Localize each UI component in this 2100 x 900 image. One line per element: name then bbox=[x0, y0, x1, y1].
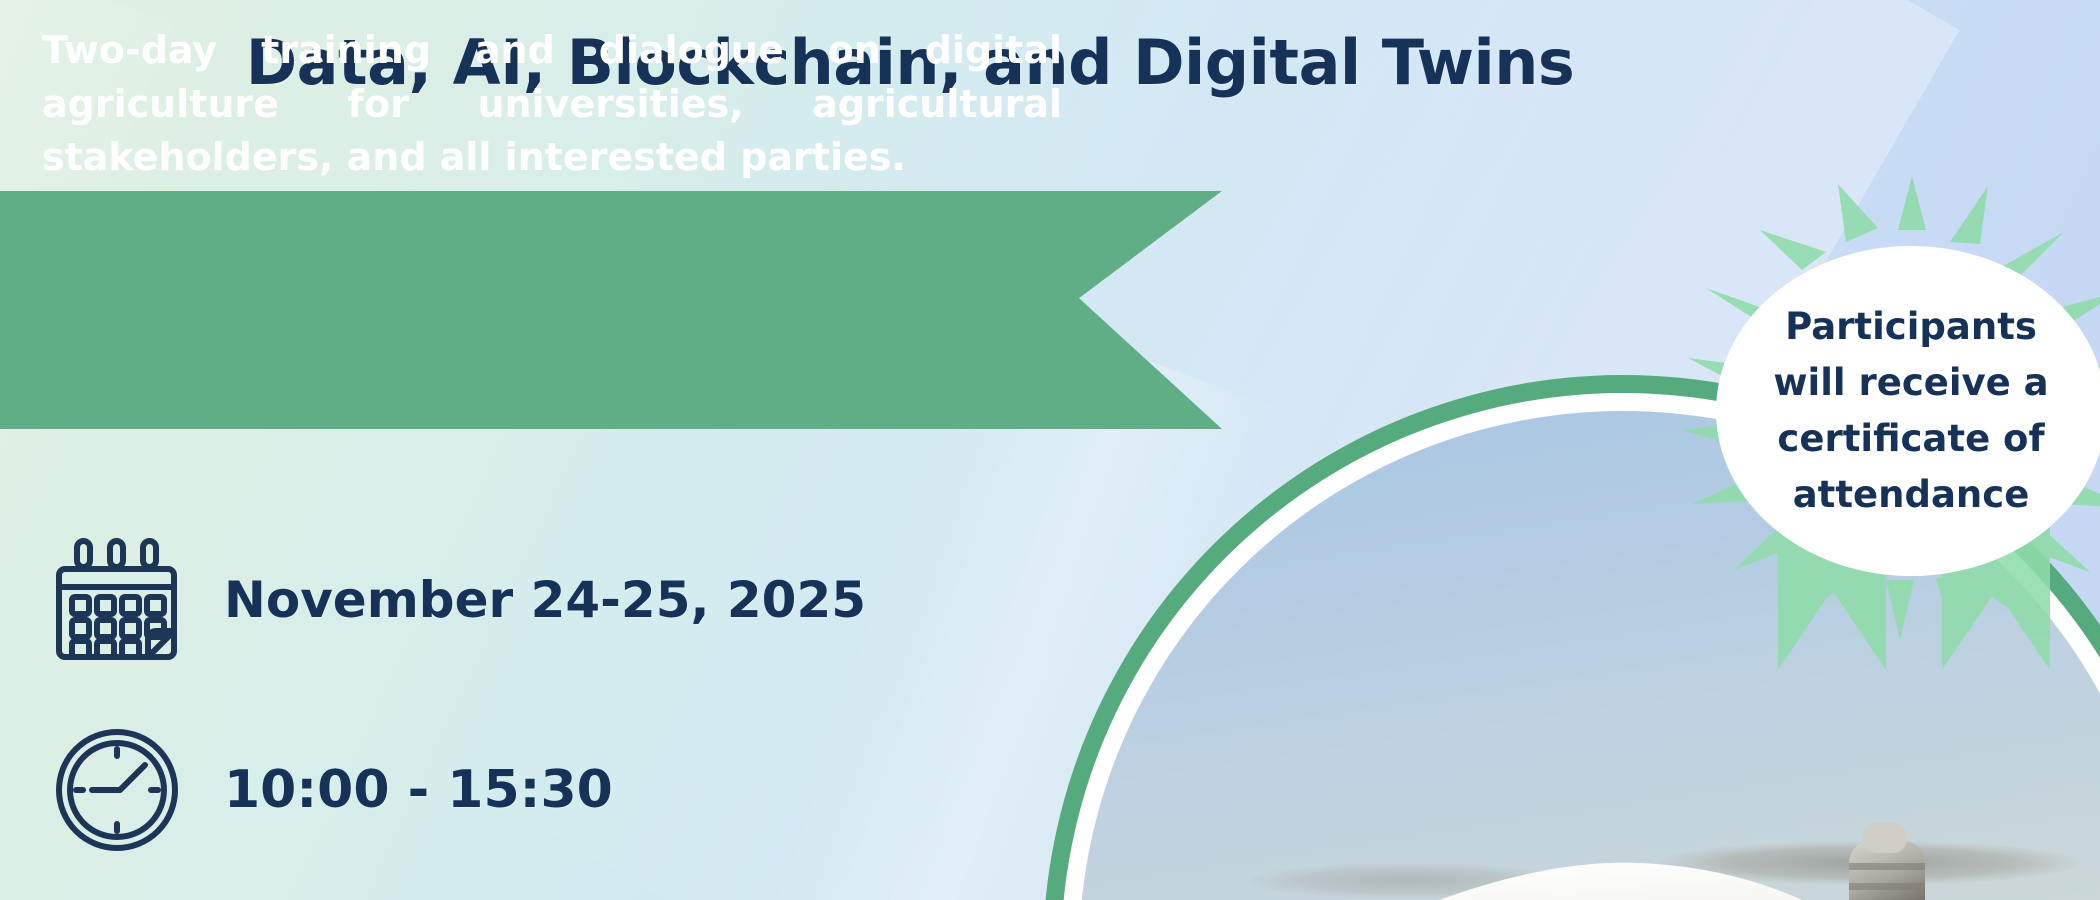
certificate-badge: Participants will receive a certificate … bbox=[1650, 170, 2100, 810]
clock-icon bbox=[52, 725, 182, 855]
event-date-row: November 24-25, 2025 bbox=[52, 535, 866, 665]
event-banner: Data, AI, Blockchain, and Digital Twins … bbox=[0, 0, 2100, 900]
badge-label: Participants will receive a certificate … bbox=[1746, 299, 2076, 524]
event-date-label: November 24-25, 2025 bbox=[224, 571, 866, 629]
event-time-label: 10:00 - 15:30 bbox=[224, 760, 613, 820]
subtitle-text: Two-day training and dialogue on digital… bbox=[42, 24, 1062, 185]
calendar-icon bbox=[52, 535, 182, 665]
event-time-row: 10:00 - 15:30 bbox=[52, 725, 613, 855]
subtitle-ribbon bbox=[0, 191, 1222, 429]
badge-text-circle: Participants will receive a certificate … bbox=[1716, 246, 2100, 576]
